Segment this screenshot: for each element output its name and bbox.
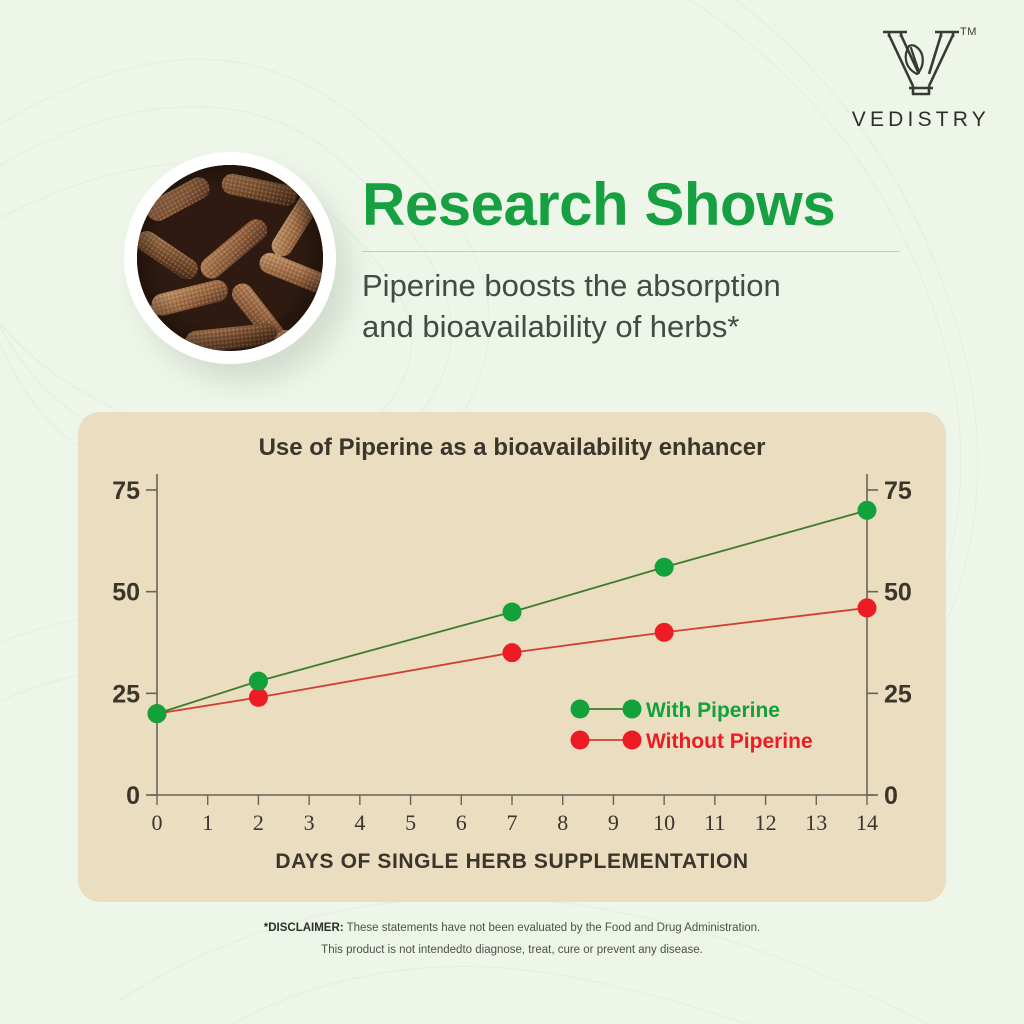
chart-x-axis-label: DAYS OF SINGLE HERB SUPPLEMENTATION <box>78 850 946 874</box>
svg-text:75: 75 <box>112 477 140 505</box>
svg-text:1: 1 <box>202 810 213 835</box>
line-chart: 0025255050757501234567891011121314With P… <box>78 412 946 902</box>
subtitle-line-1: Piperine boosts the absorption <box>362 266 922 307</box>
svg-text:13: 13 <box>805 810 827 835</box>
svg-text:2: 2 <box>253 810 264 835</box>
subtitle-line-2: and bioavailability of herbs* <box>362 307 922 348</box>
svg-text:75: 75 <box>884 477 912 505</box>
disclaimer-line-2: This product is not intendedto diagnose,… <box>0 940 1024 962</box>
svg-text:0: 0 <box>884 782 898 810</box>
brand-logo: TM VEDISTRY <box>852 22 990 132</box>
svg-text:8: 8 <box>557 810 568 835</box>
svg-text:25: 25 <box>112 680 140 708</box>
svg-text:Without Piperine: Without Piperine <box>646 730 813 753</box>
svg-text:50: 50 <box>112 579 140 607</box>
svg-text:0: 0 <box>152 810 163 835</box>
disclaimer-line-1: *DISCLAIMER: These statements have not b… <box>0 918 1024 940</box>
svg-text:6: 6 <box>456 810 467 835</box>
svg-text:5: 5 <box>405 810 416 835</box>
svg-text:0: 0 <box>126 782 140 810</box>
svg-text:3: 3 <box>304 810 315 835</box>
svg-text:With Piperine: With Piperine <box>646 699 780 722</box>
svg-text:4: 4 <box>354 810 365 835</box>
brand-wordmark: VEDISTRY <box>852 108 990 132</box>
svg-text:50: 50 <box>884 579 912 607</box>
page-subtitle: Piperine boosts the absorption and bioav… <box>362 266 922 348</box>
v-leaf-logo-icon: TM <box>873 22 969 102</box>
page-title: Research Shows <box>362 174 922 235</box>
trademark-symbol: TM <box>960 26 977 38</box>
svg-text:7: 7 <box>507 810 518 835</box>
svg-text:14: 14 <box>856 810 878 835</box>
svg-text:12: 12 <box>755 810 777 835</box>
disclaimer-label: *DISCLAIMER: <box>264 922 344 934</box>
disclaimer-text-1: These statements have not been evaluated… <box>344 922 761 934</box>
headline-divider <box>362 251 900 252</box>
long-pepper-bowl-photo <box>124 152 336 364</box>
svg-text:11: 11 <box>704 810 725 835</box>
hero-text-block: Research Shows Piperine boosts the absor… <box>362 174 922 348</box>
svg-text:10: 10 <box>653 810 675 835</box>
disclaimer: *DISCLAIMER: These statements have not b… <box>0 918 1024 962</box>
svg-text:25: 25 <box>884 680 912 708</box>
svg-text:9: 9 <box>608 810 619 835</box>
chart-panel: Use of Piperine as a bioavailability enh… <box>78 412 946 902</box>
